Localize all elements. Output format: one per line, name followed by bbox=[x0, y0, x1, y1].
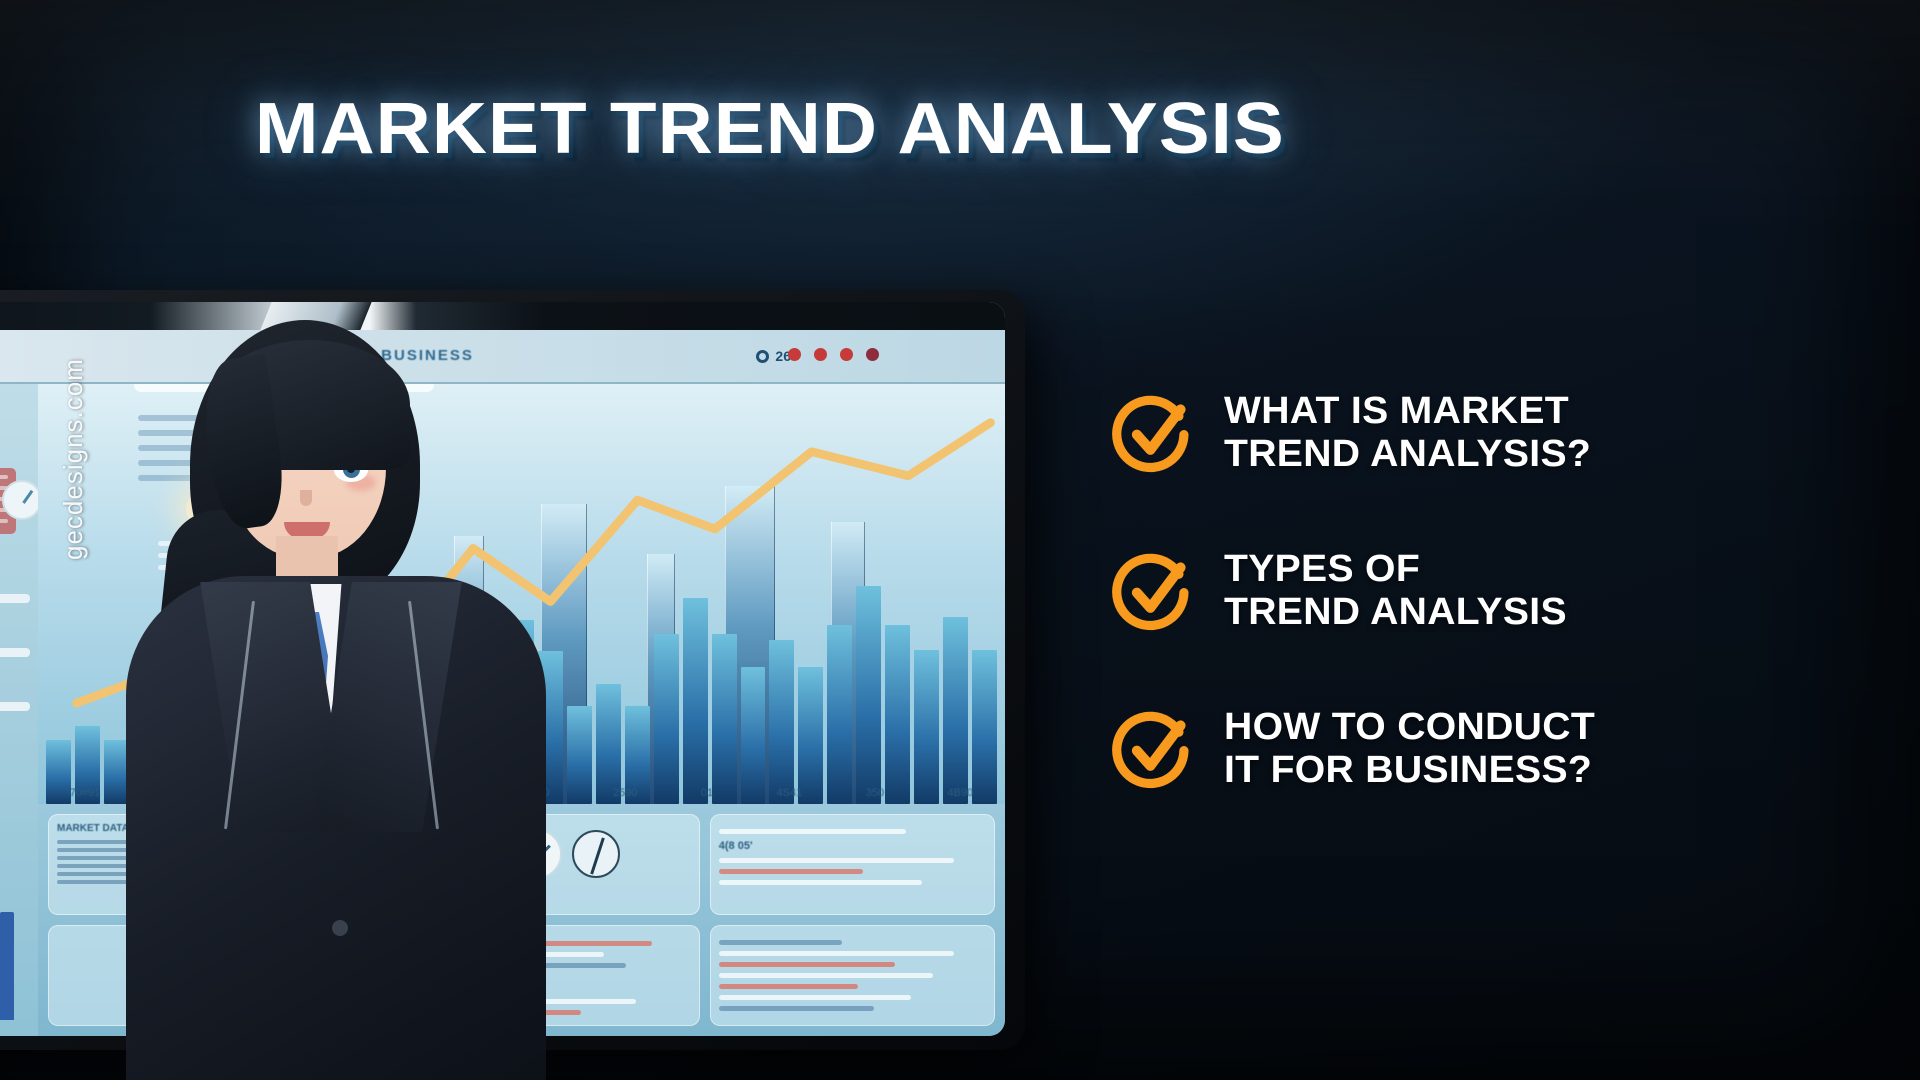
axis-tick-label: 2590 bbox=[613, 787, 637, 799]
checklist-item[interactable]: WHAT IS MARKET TREND ANALYSIS? bbox=[1110, 390, 1770, 476]
axis-tick-label: 350 bbox=[866, 787, 884, 799]
nose bbox=[300, 490, 312, 506]
checklist-item-label: HOW TO CONDUCT IT FOR BUSINESS? bbox=[1224, 706, 1595, 792]
left-bar-list bbox=[0, 558, 30, 729]
axis-tick-label: 4B90 bbox=[947, 787, 973, 799]
page-title: MARKET TREND ANALYSIS bbox=[255, 88, 1285, 170]
check-circle-icon bbox=[1110, 391, 1194, 475]
list-item bbox=[0, 702, 30, 711]
metrics-card[interactable]: 4(8 05' bbox=[710, 814, 995, 915]
checklist-item[interactable]: HOW TO CONDUCT IT FOR BUSINESS? bbox=[1110, 706, 1770, 792]
status-dot bbox=[814, 348, 827, 361]
title-area: MARKET TREND ANALYSIS bbox=[0, 88, 1540, 170]
checklist: WHAT IS MARKET TREND ANALYSIS? TYPES OF … bbox=[1110, 390, 1770, 864]
checklist-item-label: WHAT IS MARKET TREND ANALYSIS? bbox=[1224, 390, 1591, 476]
suit-button bbox=[332, 920, 348, 936]
left-micro-bar-chart bbox=[0, 900, 14, 1020]
checklist-item[interactable]: TYPES OF TREND ANALYSIS bbox=[1110, 548, 1770, 634]
list-item bbox=[0, 594, 30, 603]
list-item bbox=[0, 648, 30, 657]
watermark: gecdesigns.com bbox=[58, 358, 89, 560]
axis-tick-label: 4S41 bbox=[777, 787, 803, 799]
dashboard-left-panel bbox=[0, 384, 38, 1036]
check-circle-icon bbox=[1110, 549, 1194, 633]
checklist-item-label: TYPES OF TREND ANALYSIS bbox=[1224, 548, 1567, 634]
metrics-card-value: 4(8 05' bbox=[719, 840, 986, 852]
dashboard-status-dots bbox=[788, 348, 879, 361]
ring-icon bbox=[756, 350, 769, 363]
axis-tick-label: 01 bbox=[701, 787, 713, 799]
mini-gauge-icon bbox=[2, 480, 42, 520]
status-dot bbox=[840, 348, 853, 361]
poster-canvas: MARKET TREND ANALYSIS nala BUSINESS 26 bbox=[0, 0, 1920, 1080]
status-dot bbox=[788, 348, 801, 361]
status-dot bbox=[866, 348, 879, 361]
list-card[interactable] bbox=[710, 925, 995, 1026]
presenter-illustration bbox=[70, 300, 590, 1080]
check-circle-icon bbox=[1110, 707, 1194, 791]
dashboard-counter: 26 bbox=[756, 348, 791, 364]
